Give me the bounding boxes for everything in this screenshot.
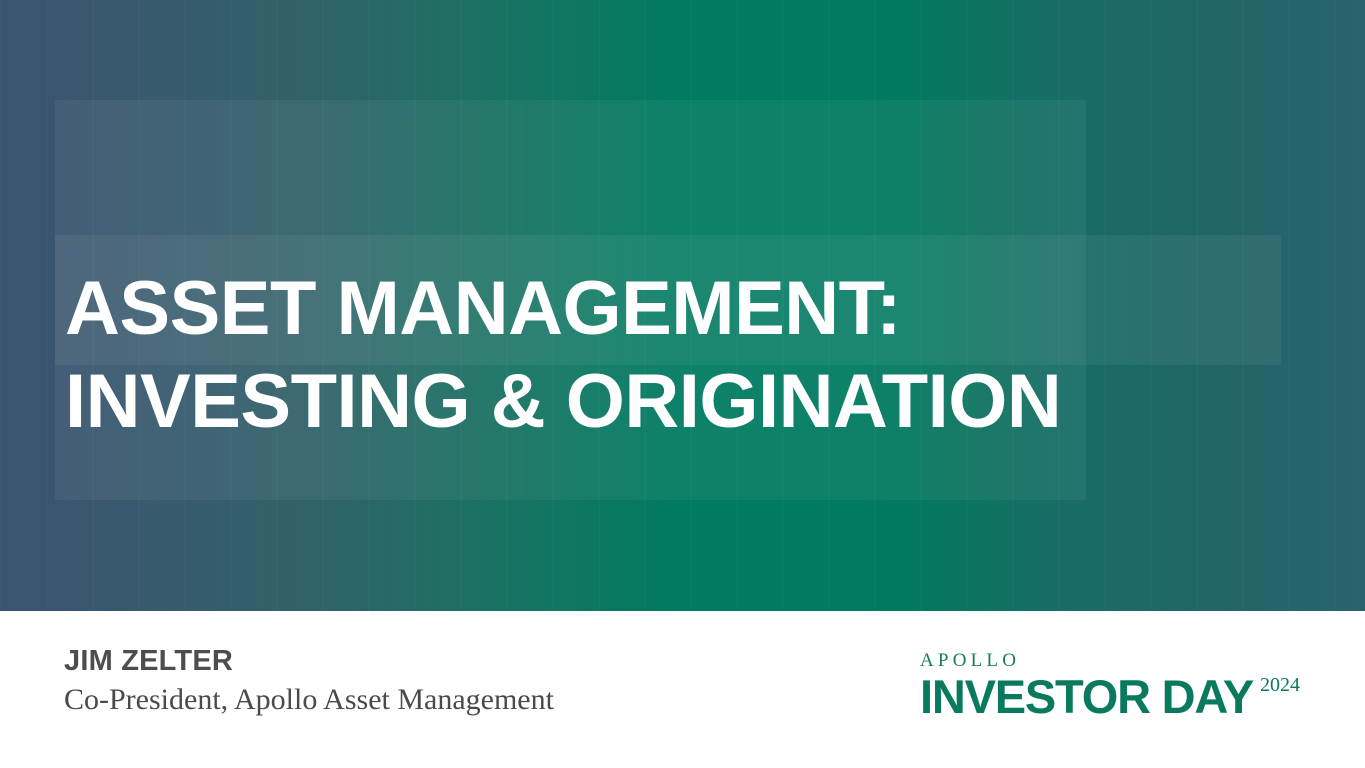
logo-event-lockup: INVESTOR DAY 2024 (920, 672, 1320, 722)
logo-event-name: INVESTOR DAY (920, 672, 1253, 722)
speaker-name: JIM ZELTER (64, 644, 554, 678)
logo-brand-apollo: APOLLO (920, 651, 1320, 671)
speaker-role: Co-President, Apollo Asset Management (64, 680, 554, 720)
slide-title: ASSET MANAGEMENT: INVESTING & ORIGINATIO… (65, 262, 1315, 448)
slide-footer: JIM ZELTER Co-President, Apollo Asset Ma… (0, 611, 1365, 768)
title-line-2: INVESTING & ORIGINATION (65, 355, 1315, 448)
title-slide: ASSET MANAGEMENT: INVESTING & ORIGINATIO… (0, 0, 1365, 768)
title-line-1: ASSET MANAGEMENT: (65, 262, 1315, 355)
logo-event-year: 2024 (1260, 675, 1300, 695)
speaker-info: JIM ZELTER Co-President, Apollo Asset Ma… (64, 644, 554, 720)
apollo-investor-day-logo: APOLLO INVESTOR DAY 2024 (920, 651, 1320, 731)
hero-banner: ASSET MANAGEMENT: INVESTING & ORIGINATIO… (0, 0, 1365, 611)
